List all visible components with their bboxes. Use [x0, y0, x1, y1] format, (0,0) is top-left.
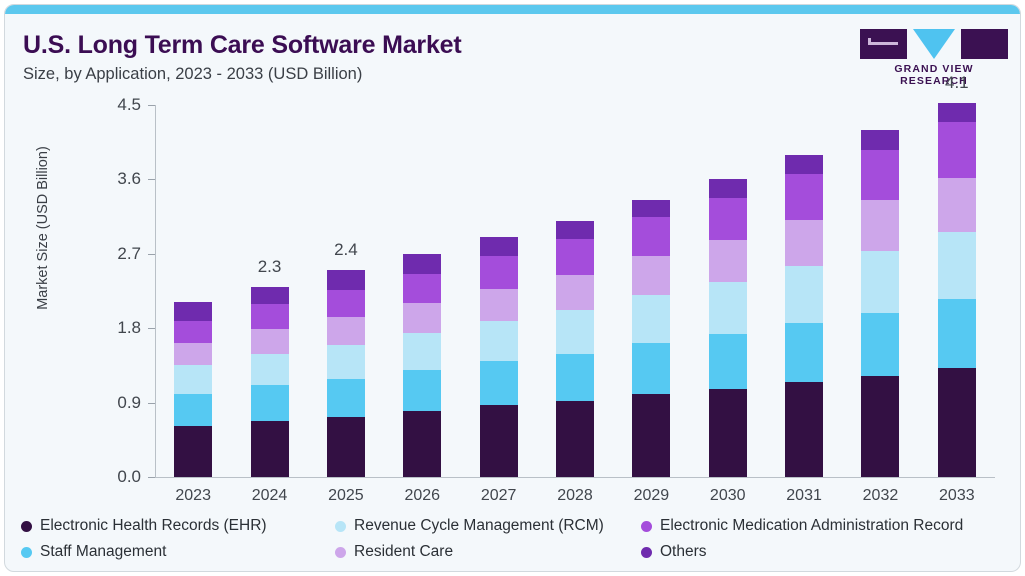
bar-segment[interactable]: [327, 345, 365, 379]
y-axis-tick-label: 1.8: [69, 318, 141, 338]
legend-label: Resident Care: [354, 543, 453, 561]
y-axis-tick-mark: [148, 254, 155, 255]
x-axis-tick-label: 2033: [917, 487, 997, 505]
chart-card: U.S. Long Term Care Software Market Size…: [4, 4, 1021, 572]
x-axis-line: [155, 477, 995, 478]
legend-label: Others: [660, 543, 707, 561]
bar-segment[interactable]: [938, 368, 976, 477]
legend-label: Revenue Cycle Management (RCM): [354, 517, 604, 535]
x-axis-tick-label: 2027: [459, 487, 539, 505]
bar-segment[interactable]: [632, 217, 670, 256]
y-axis-tick-mark: [148, 179, 155, 180]
bar-segment[interactable]: [709, 179, 747, 197]
bar-segment[interactable]: [327, 379, 365, 417]
bar-segment[interactable]: [785, 174, 823, 220]
bar-segment[interactable]: [327, 270, 365, 290]
bar-segment[interactable]: [785, 266, 823, 323]
bar-segment[interactable]: [556, 310, 594, 354]
bar-segment[interactable]: [403, 370, 441, 411]
x-axis-tick-label: 2032: [840, 487, 920, 505]
bar-segment[interactable]: [632, 295, 670, 343]
bar-segment[interactable]: [709, 240, 747, 282]
y-axis-tick-label: 4.5: [69, 95, 141, 115]
bar-segment[interactable]: [632, 394, 670, 477]
bar-value-label: 2.4: [306, 240, 386, 260]
bar-2030[interactable]: [709, 179, 747, 477]
bar-segment[interactable]: [632, 343, 670, 394]
bar-segment[interactable]: [174, 426, 212, 477]
bar-segment[interactable]: [403, 274, 441, 304]
bar-segment[interactable]: [251, 287, 289, 304]
bar-segment[interactable]: [938, 103, 976, 122]
y-axis-tick-mark: [148, 105, 155, 106]
legend-item[interactable]: Resident Care: [335, 543, 453, 561]
bar-segment[interactable]: [251, 385, 289, 421]
bar-segment[interactable]: [709, 282, 747, 334]
bar-segment[interactable]: [174, 302, 212, 321]
bar-2027[interactable]: [480, 237, 518, 477]
bar-segment[interactable]: [174, 321, 212, 343]
bar-segment[interactable]: [480, 256, 518, 288]
bar-2025[interactable]: [327, 270, 365, 477]
legend-label: Staff Management: [40, 543, 166, 561]
legend-color-dot-icon: [335, 547, 346, 558]
bar-segment[interactable]: [861, 200, 899, 250]
stacked-bar-chart: Market Size (USD Billion) 0.00.91.82.73.…: [5, 5, 1021, 572]
y-axis-tick-label: 0.0: [69, 467, 141, 487]
bar-2031[interactable]: [785, 155, 823, 477]
bar-segment[interactable]: [556, 354, 594, 401]
chart-legend: Electronic Health Records (EHR)Revenue C…: [21, 517, 1013, 567]
bar-segment[interactable]: [632, 200, 670, 217]
x-axis-tick-label: 2029: [611, 487, 691, 505]
bar-segment[interactable]: [174, 394, 212, 426]
legend-item[interactable]: Revenue Cycle Management (RCM): [335, 517, 604, 535]
legend-item[interactable]: Staff Management: [21, 543, 166, 561]
y-axis-tick-label: 3.6: [69, 169, 141, 189]
x-axis-tick-label: 2028: [535, 487, 615, 505]
bar-segment[interactable]: [480, 361, 518, 405]
bar-segment[interactable]: [938, 178, 976, 233]
y-axis-tick-label: 0.9: [69, 393, 141, 413]
bar-segment[interactable]: [251, 354, 289, 385]
bar-segment[interactable]: [403, 411, 441, 477]
bar-2029[interactable]: [632, 200, 670, 477]
bar-segment[interactable]: [556, 401, 594, 477]
bar-2024[interactable]: [251, 287, 289, 477]
bar-segment[interactable]: [938, 232, 976, 299]
bar-segment[interactable]: [785, 323, 823, 382]
legend-color-dot-icon: [335, 521, 346, 532]
bar-segment[interactable]: [403, 333, 441, 370]
plot-area: [155, 105, 995, 477]
y-axis-label: Market Size (USD Billion): [35, 98, 51, 358]
bar-segment[interactable]: [327, 417, 365, 477]
x-axis-tick-label: 2023: [153, 487, 233, 505]
bar-segment[interactable]: [403, 254, 441, 274]
bar-segment[interactable]: [938, 299, 976, 368]
legend-color-dot-icon: [641, 547, 652, 558]
x-axis-tick-label: 2024: [230, 487, 310, 505]
y-axis-tick-mark: [148, 403, 155, 404]
bar-segment[interactable]: [556, 239, 594, 275]
bar-segment[interactable]: [938, 122, 976, 177]
bar-2023[interactable]: [174, 302, 212, 477]
bar-segment[interactable]: [251, 329, 289, 354]
bar-segment[interactable]: [480, 321, 518, 362]
bar-value-label: 2.3: [230, 257, 310, 277]
y-axis-tick-mark: [148, 328, 155, 329]
bar-segment[interactable]: [632, 256, 670, 295]
bar-segment[interactable]: [251, 421, 289, 477]
bar-2032[interactable]: [861, 130, 899, 477]
bar-segment[interactable]: [785, 382, 823, 477]
bar-segment[interactable]: [174, 343, 212, 365]
bar-segment[interactable]: [403, 303, 441, 333]
bar-segment[interactable]: [861, 376, 899, 477]
bar-segment[interactable]: [861, 313, 899, 377]
bar-segment[interactable]: [785, 220, 823, 266]
legend-color-dot-icon: [641, 521, 652, 532]
x-axis-tick-label: 2026: [382, 487, 462, 505]
y-axis-tick-mark: [148, 477, 155, 478]
legend-color-dot-icon: [21, 547, 32, 558]
bar-2028[interactable]: [556, 221, 594, 477]
bar-segment[interactable]: [709, 389, 747, 477]
bar-segment[interactable]: [174, 365, 212, 393]
legend-label: Electronic Health Records (EHR): [40, 517, 267, 535]
legend-item[interactable]: Others: [641, 543, 707, 561]
legend-color-dot-icon: [21, 521, 32, 532]
bar-segment[interactable]: [556, 221, 594, 239]
y-axis-tick-label: 2.7: [69, 244, 141, 264]
bar-segment[interactable]: [327, 317, 365, 344]
bar-segment[interactable]: [556, 275, 594, 311]
bar-value-label: 4.1: [917, 73, 997, 93]
bar-segment[interactable]: [480, 237, 518, 256]
x-axis-tick-label: 2031: [764, 487, 844, 505]
bar-segment[interactable]: [861, 130, 899, 150]
bar-2026[interactable]: [403, 254, 441, 477]
bar-segment[interactable]: [327, 290, 365, 317]
bar-segment[interactable]: [709, 198, 747, 240]
x-axis-tick-label: 2030: [688, 487, 768, 505]
bar-segment[interactable]: [861, 251, 899, 313]
bar-segment[interactable]: [480, 289, 518, 321]
bar-segment[interactable]: [709, 334, 747, 389]
bar-segment[interactable]: [861, 150, 899, 200]
bar-segment[interactable]: [785, 155, 823, 174]
bar-segment[interactable]: [480, 405, 518, 477]
bar-segment[interactable]: [251, 304, 289, 329]
legend-label: Electronic Medication Administration Rec…: [660, 517, 963, 535]
legend-item[interactable]: Electronic Medication Administration Rec…: [641, 517, 963, 535]
bar-2033[interactable]: [938, 103, 976, 477]
x-axis-tick-label: 2025: [306, 487, 386, 505]
legend-item[interactable]: Electronic Health Records (EHR): [21, 517, 267, 535]
